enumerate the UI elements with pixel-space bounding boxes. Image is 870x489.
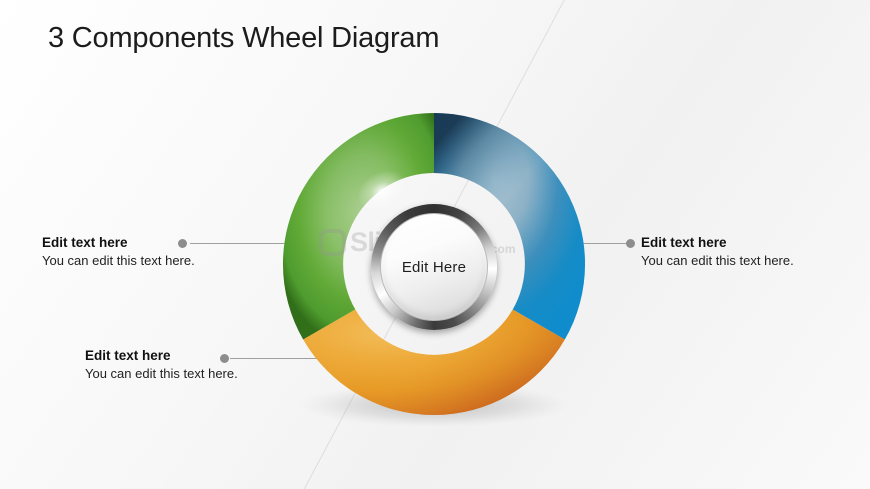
callout-left-body: You can edit this text here.	[42, 252, 242, 270]
page-title: 3 Components Wheel Diagram	[48, 22, 439, 55]
callout-right[interactable]: Edit text here You can edit this text he…	[641, 234, 841, 270]
callout-right-body: You can edit this text here.	[641, 252, 841, 270]
center-button[interactable]: Edit Here	[371, 204, 497, 330]
callout-bottom-body: You can edit this text here.	[85, 365, 285, 383]
connector-dot-right	[626, 239, 635, 248]
center-button-face: Edit Here	[380, 213, 488, 321]
slide-canvas: 3 Components Wheel Diagram	[0, 0, 870, 489]
center-button-label: Edit Here	[402, 259, 466, 276]
callout-bottom-title: Edit text here	[85, 347, 285, 364]
callout-right-title: Edit text here	[641, 234, 841, 251]
callout-left-title: Edit text here	[42, 234, 242, 251]
callout-bottom[interactable]: Edit text here You can edit this text he…	[85, 347, 285, 383]
callout-left[interactable]: Edit text here You can edit this text he…	[42, 234, 242, 270]
